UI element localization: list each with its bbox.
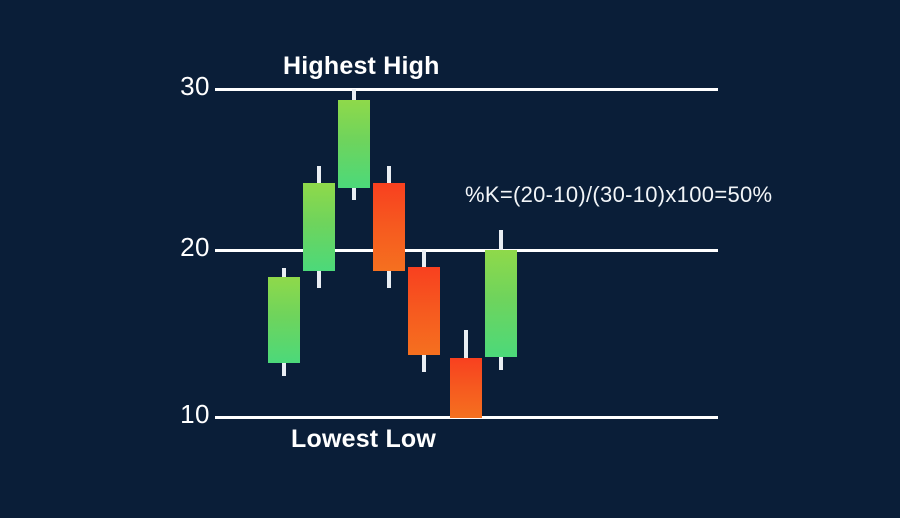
- candle-3-body: [338, 100, 370, 188]
- candle-5-body: [408, 267, 440, 355]
- candle-7: [485, 0, 517, 518]
- candle-6-body: [450, 358, 482, 418]
- candle-7-body: [485, 250, 517, 357]
- candle-4-body: [373, 183, 405, 271]
- axis-tick-label-20: 20: [160, 232, 210, 263]
- percent-k-formula-annotation: %K=(20-10)/(30-10)x100=50%: [465, 182, 772, 208]
- candlestick-chart-figure: Highest High 30 20 10 %K=(20-10)/(30-10)…: [0, 0, 900, 518]
- lowest-low-label: Lowest Low: [291, 425, 436, 454]
- axis-tick-label-10: 10: [160, 399, 210, 430]
- candle-6: [450, 0, 482, 518]
- candle-2-body: [303, 183, 335, 271]
- candle-1-body: [268, 277, 300, 363]
- axis-tick-label-30: 30: [160, 71, 210, 102]
